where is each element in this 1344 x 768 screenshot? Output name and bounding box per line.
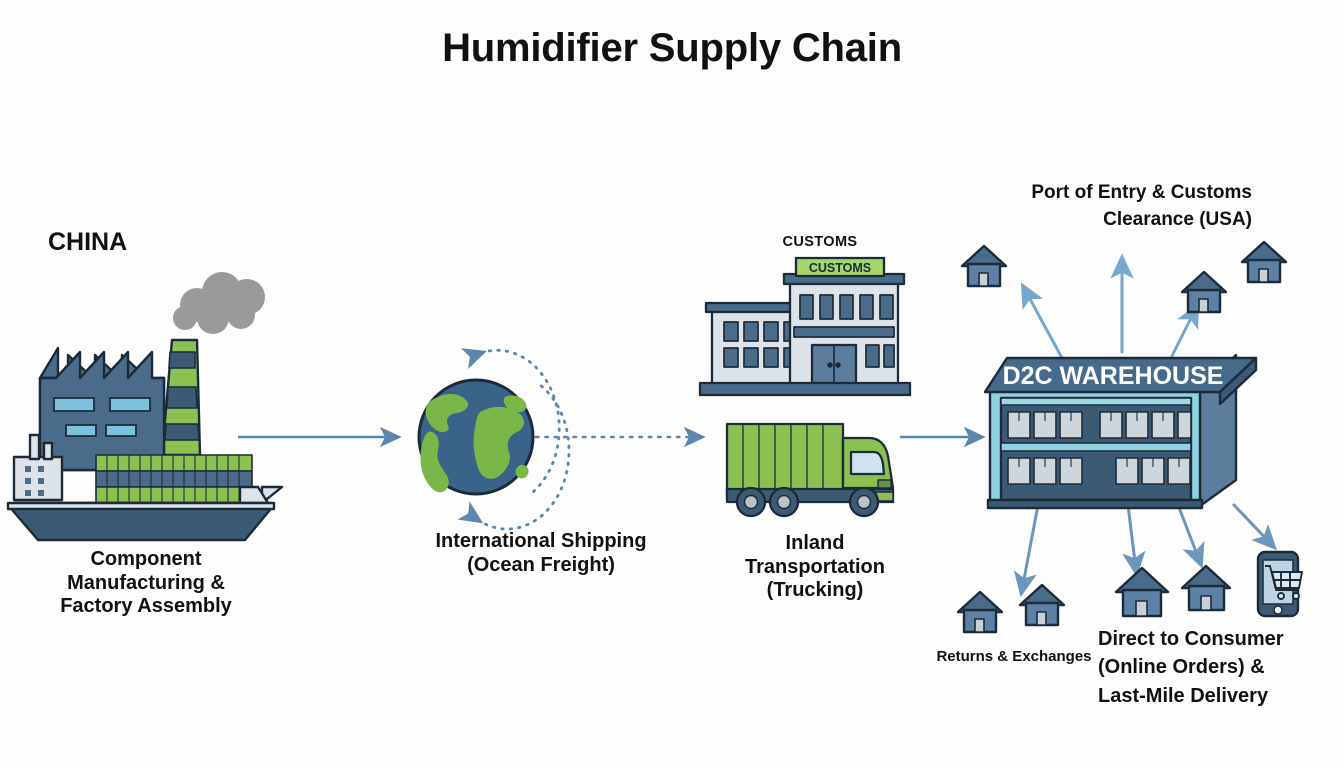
house-icon bbox=[1116, 568, 1168, 616]
house-icon bbox=[958, 592, 1002, 632]
caption-direct-to-consumer: Direct to Consumer (Online Orders) & Las… bbox=[1098, 625, 1338, 710]
phone-cart-icon bbox=[1258, 552, 1302, 616]
house-icon bbox=[1242, 242, 1286, 282]
house-icon bbox=[1182, 272, 1226, 312]
caption-port-of-entry: Port of Entry & Customs Clearance (USA) bbox=[952, 180, 1252, 234]
house-icon bbox=[962, 246, 1006, 286]
caption-returns: Returns & Exchanges bbox=[910, 648, 1118, 666]
diagram-canvas: Humidifier Supply Chain bbox=[0, 0, 1344, 768]
house-icon bbox=[1020, 585, 1064, 625]
house-icon bbox=[1182, 566, 1230, 610]
